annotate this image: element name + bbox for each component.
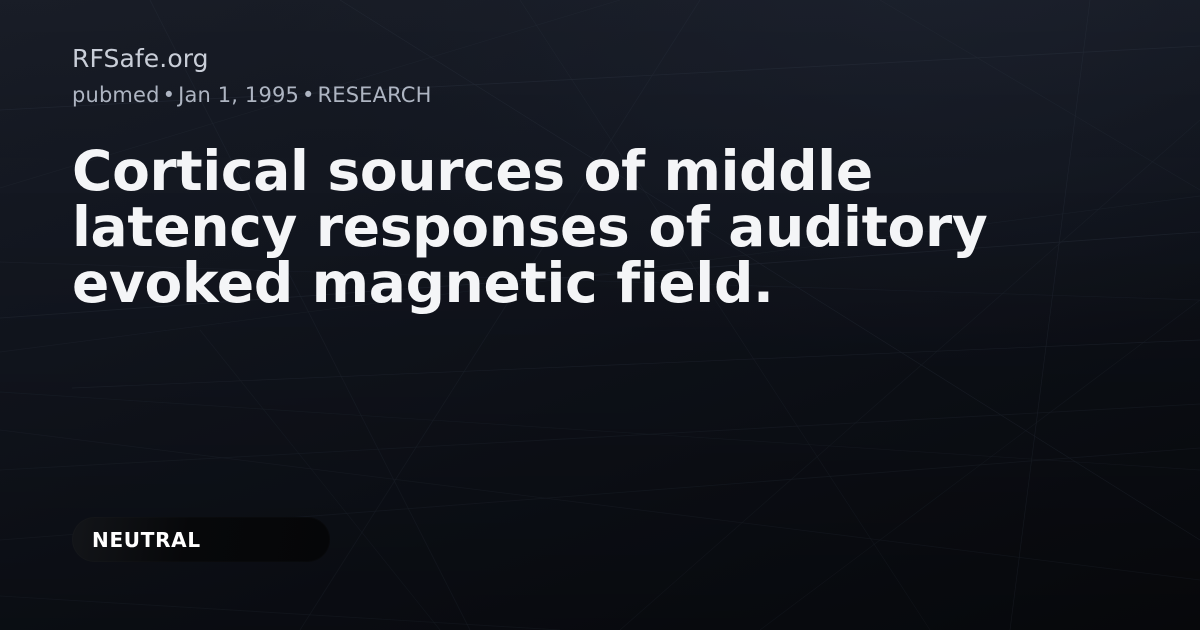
meta-source: pubmed [72, 83, 160, 107]
page-title: Cortical sources of middle latency respo… [72, 143, 1082, 311]
badge-row: NEUTRAL [72, 517, 330, 562]
meta-line: pubmed•Jan 1, 1995•RESEARCH [72, 82, 432, 108]
meta-separator-1: • [160, 83, 179, 107]
site-name: RFSafe.org [72, 44, 209, 74]
meta-date: Jan 1, 1995 [178, 83, 299, 107]
card-content: RFSafe.org pubmed•Jan 1, 1995•RESEARCH C… [72, 0, 1132, 630]
social-share-card: RFSafe.org pubmed•Jan 1, 1995•RESEARCH C… [0, 0, 1200, 630]
status-badge-label: NEUTRAL [92, 530, 201, 550]
meta-separator-2: • [299, 83, 318, 107]
meta-category: RESEARCH [318, 83, 432, 107]
status-badge: NEUTRAL [72, 517, 330, 562]
